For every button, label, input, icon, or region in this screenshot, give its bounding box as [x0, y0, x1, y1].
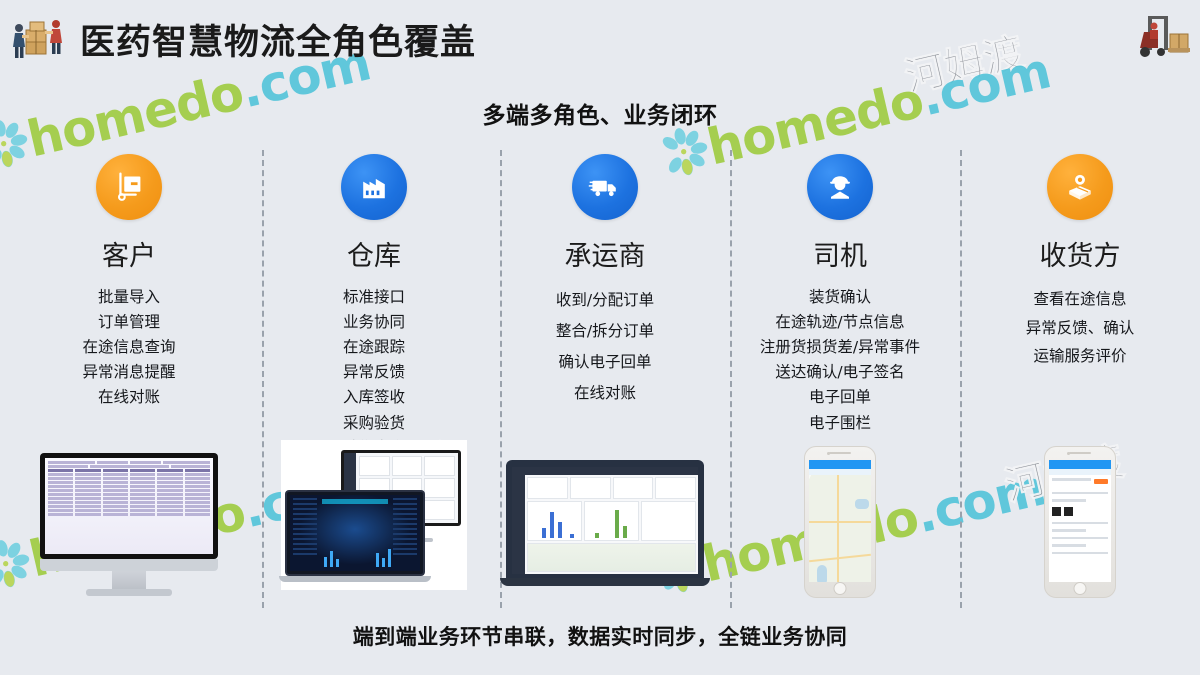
workers-loading-boxes-icon	[8, 12, 70, 64]
role-columns: 客户 批量导入 订单管理 在途信息查询 异常消息提醒 在线对账	[0, 146, 1200, 608]
list-item: 在线对账	[82, 385, 175, 410]
list-item: 装货确认	[760, 285, 920, 310]
list-item: 收到/分配订单	[556, 285, 654, 316]
laptop-dark-dashboard	[285, 490, 425, 582]
role-title: 客户	[102, 234, 156, 273]
list-item: 在线对账	[556, 378, 654, 409]
list-item: 异常反馈、确认	[1026, 314, 1135, 343]
list-item: 整合/拆分订单	[556, 316, 654, 347]
role-feature-list: 收到/分配订单 整合/拆分订单 确认电子回单 在线对账	[556, 285, 654, 409]
role-column-consignee[interactable]: 收货方 查看在途信息 异常反馈、确认 运输服务评价	[960, 146, 1200, 608]
status-badge	[1094, 479, 1108, 484]
slide-header: 医药智慧物流全角色覆盖	[0, 0, 1200, 72]
role-title: 收货方	[1040, 234, 1121, 273]
list-item: 订单管理	[82, 310, 175, 335]
device-desktop-monitor	[40, 453, 218, 596]
list-item: 运输服务评价	[1026, 342, 1135, 371]
footer-caption: 端到端业务环节串联，数据实时同步，全链业务协同	[0, 621, 1200, 651]
list-item: 采购验货	[343, 411, 405, 436]
forklift-icon	[1136, 8, 1192, 64]
role-title: 仓库	[347, 234, 401, 273]
delivery-truck-icon	[572, 154, 638, 220]
role-title: 承运商	[565, 234, 646, 273]
list-item: 标准接口	[343, 285, 405, 310]
subtitle: 多端多角色、业务闭环	[0, 96, 1200, 130]
list-item: 异常反馈	[343, 360, 405, 385]
map-view	[809, 475, 871, 582]
role-column-warehouse[interactable]: 仓库 标准接口 业务协同 在途跟踪 异常反馈 入库签收 采购验货 销售出库	[258, 146, 490, 608]
list-item: 电子围栏	[760, 411, 920, 436]
app-header-bar	[1049, 460, 1111, 469]
page-title: 医药智慧物流全角色覆盖	[80, 14, 476, 65]
laptop-base	[500, 578, 710, 586]
qr-code-icon	[1064, 507, 1073, 516]
qr-code-icon	[1052, 507, 1061, 516]
device-monitor-laptop-group	[281, 440, 467, 590]
role-feature-list: 装货确认 在途轨迹/节点信息 注册货损货差/异常事件 送达确认/电子签名 电子回…	[760, 285, 920, 436]
list-item: 批量导入	[82, 285, 175, 310]
warehouse-factory-icon	[341, 154, 407, 220]
list-item: 在途轨迹/节点信息	[760, 310, 920, 335]
app-header-bar	[809, 460, 871, 469]
list-item: 入库签收	[343, 385, 405, 410]
list-item: 送达确认/电子签名	[760, 360, 920, 385]
device-laptop-analytics	[500, 460, 710, 586]
list-item: 确认电子回单	[556, 347, 654, 378]
driver-person-icon	[807, 154, 873, 220]
role-feature-list: 查看在途信息 异常反馈、确认 运输服务评价	[1026, 285, 1135, 371]
list-item: 查看在途信息	[1026, 285, 1135, 314]
list-item: 异常消息提醒	[82, 360, 175, 385]
role-feature-list: 标准接口 业务协同 在途跟踪 异常反馈 入库签收 采购验货 销售出库	[343, 285, 405, 461]
phone-home-button[interactable]	[1074, 582, 1087, 595]
role-feature-list: 批量导入 订单管理 在途信息查询 异常消息提醒 在线对账	[82, 285, 175, 411]
phone-speaker	[1069, 452, 1091, 454]
laptop-screen	[506, 460, 704, 578]
role-column-driver[interactable]: 司机 装货确认 在途轨迹/节点信息 注册货损货差/异常事件 送达确认/电子签名 …	[720, 146, 960, 608]
monitor-base	[86, 589, 172, 596]
spreadsheet-content	[45, 458, 213, 554]
monitor-chin	[40, 559, 218, 571]
role-title: 司机	[813, 234, 867, 273]
phone-speaker	[829, 452, 851, 454]
role-column-carrier[interactable]: 承运商 收到/分配订单 整合/拆分订单 确认电子回单 在线对账	[490, 146, 720, 608]
slide-canvas: 医药智慧物流全角色覆盖 多端多角色、业务闭环	[0, 0, 1200, 675]
phone-screen	[809, 460, 871, 582]
role-column-customer[interactable]: 客户 批量导入 订单管理 在途信息查询 异常消息提醒 在线对账	[0, 146, 258, 608]
order-list-view	[1049, 475, 1111, 562]
hand-truck-icon	[96, 154, 162, 220]
monitor-screen	[40, 453, 218, 559]
phone-home-button[interactable]	[834, 582, 847, 595]
list-item: 在途信息查询	[82, 335, 175, 360]
device-phone-orderlist	[1044, 446, 1116, 598]
phone-camera	[827, 452, 830, 455]
phone-camera	[1067, 452, 1070, 455]
phone-screen	[1049, 460, 1111, 582]
list-item: 电子回单	[760, 385, 920, 410]
person-package-icon	[1047, 154, 1113, 220]
list-item: 注册货损货差/异常事件	[760, 335, 920, 360]
list-item: 在途跟踪	[343, 335, 405, 360]
list-item: 业务协同	[343, 310, 405, 335]
device-phone-map	[804, 446, 876, 598]
monitor-neck	[112, 571, 146, 589]
